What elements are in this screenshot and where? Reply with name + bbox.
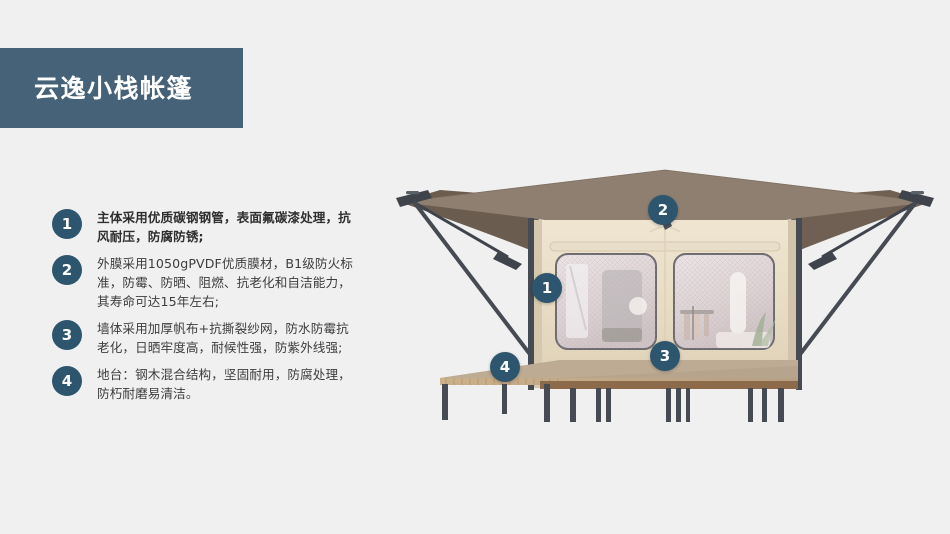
page-title: 云逸小栈帐篷: [34, 76, 193, 101]
feature-text-4: 地台：钢木混合结构，坚固耐用，防腐处理，防朽耐磨易清洁。: [97, 365, 357, 403]
window-left: [556, 254, 656, 349]
hotspot-badge-1[interactable]: 1: [532, 273, 562, 303]
right-tip-clamp: [911, 191, 924, 194]
left-wing-foot: [493, 252, 522, 270]
hotspot-badge-2[interactable]: 2: [648, 195, 678, 225]
list-item: 3 墙体采用加厚帆布+抗撕裂纱网，防水防霉抗老化，日晒牢度高，耐候性强，防紫外线…: [52, 319, 372, 357]
hotspot-badge-4[interactable]: 4: [490, 352, 520, 382]
feature-text-2: 外膜采用1050gPVDF优质膜材，B1级防火标准，防霉、防晒、阻燃、抗老化和自…: [97, 254, 357, 311]
feature-badge-1: 1: [52, 209, 82, 239]
deck-legs: [442, 384, 784, 422]
hotspot-badge-3[interactable]: 3: [650, 341, 680, 371]
feature-list: 1 主体采用优质碳钢钢管，表面氟碳漆处理，抗风耐压，防腐防锈; 2 外膜采用10…: [52, 208, 372, 411]
feature-text-1: 主体采用优质碳钢钢管，表面氟碳漆处理，抗风耐压，防腐防锈;: [97, 208, 357, 246]
feature-badge-4: 4: [52, 366, 82, 396]
deck-fascia: [540, 381, 798, 389]
list-item: 2 外膜采用1050gPVDF优质膜材，B1级防火标准，防霉、防晒、阻燃、抗老化…: [52, 254, 372, 311]
left-tip-clamp: [406, 191, 419, 194]
feature-badge-2: 2: [52, 255, 82, 285]
list-item: 1 主体采用优质碳钢钢管，表面氟碳漆处理，抗风耐压，防腐防锈;: [52, 208, 372, 246]
window-right: [674, 254, 776, 349]
feature-text-3: 墙体采用加厚帆布+抗撕裂纱网，防水防霉抗老化，日晒牢度高，耐候性强，防紫外线强;: [97, 319, 357, 357]
slide-canvas: 云逸小栈帐篷 1 主体采用优质碳钢钢管，表面氟碳漆处理，抗风耐压，防腐防锈; 2…: [0, 0, 950, 534]
title-banner: 云逸小栈帐篷: [0, 48, 243, 128]
right-wing-foot: [808, 252, 837, 270]
list-item: 4 地台：钢木混合结构，坚固耐用，防腐处理，防朽耐磨易清洁。: [52, 365, 372, 403]
feature-badge-3: 3: [52, 320, 82, 350]
